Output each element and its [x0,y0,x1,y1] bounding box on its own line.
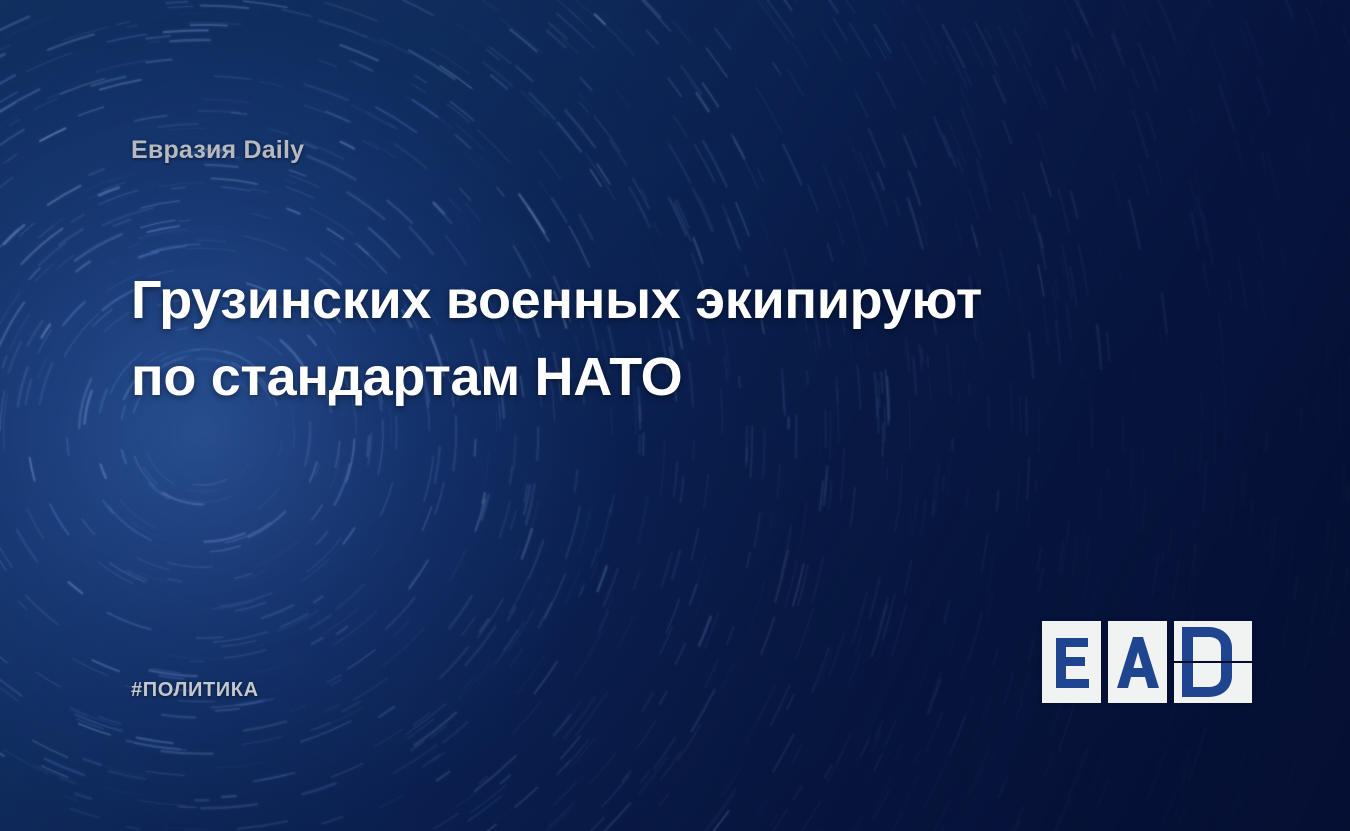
logo-tile-d-lower [1174,663,1252,703]
brand-name: Евразия Daily [131,136,304,165]
news-card: Евразия Daily Грузинских военных экипиру… [0,0,1350,831]
logo-tile-d-upper [1174,621,1252,661]
logo-tile-d [1174,621,1252,703]
logo-letter-d-lower-icon [1174,663,1252,703]
logo-tile-a [1108,621,1167,703]
logo-letter-a-icon [1116,636,1160,688]
headline-title: Грузинских военных экипируют по стандарт… [131,262,1031,416]
logo-letter-d-upper-icon [1174,621,1252,661]
category-hashtag[interactable]: #ПОЛИТИКА [131,679,259,702]
card-content: Евразия Daily Грузинских военных экипиру… [0,0,1350,831]
logo-tile-e [1042,621,1101,703]
logo-letter-e-icon [1052,636,1092,688]
eadaily-logo[interactable] [1042,621,1252,703]
